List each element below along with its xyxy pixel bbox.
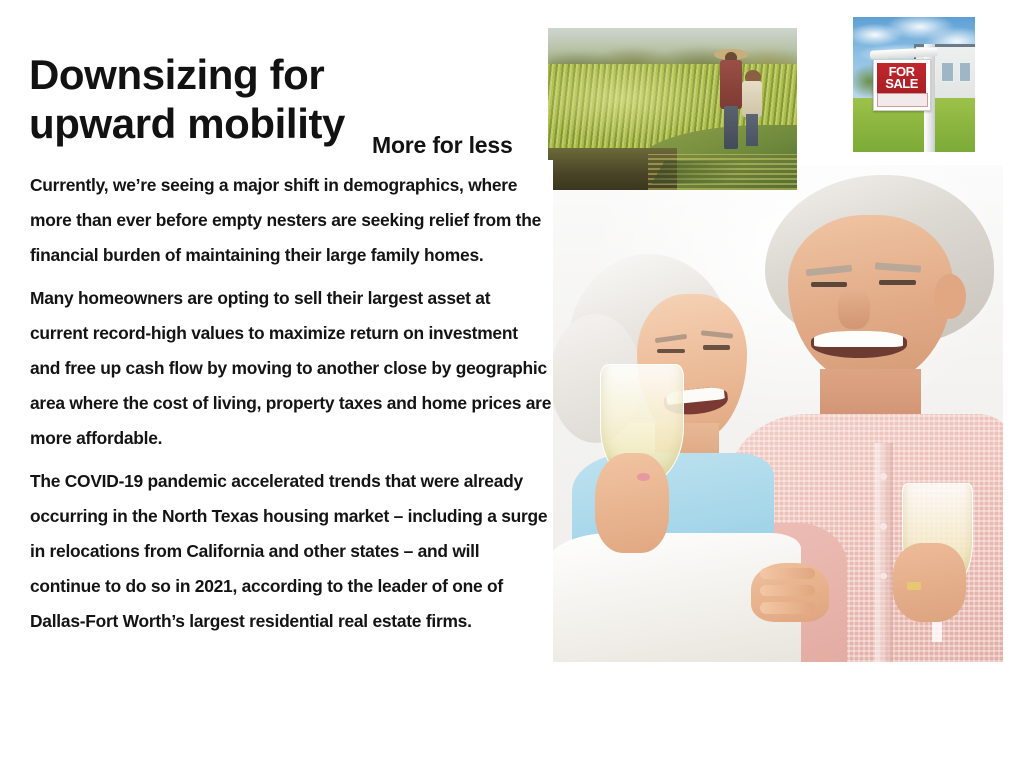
page-subtitle: More for less — [372, 132, 513, 159]
photo-house-window — [959, 62, 972, 82]
photo-man-hand — [893, 543, 966, 623]
photo-man-wedding-ring — [907, 582, 921, 590]
senior-couple-toasting-photo — [545, 165, 1003, 662]
photo-woman-eye — [657, 349, 684, 353]
photo-woman-hand — [595, 453, 668, 552]
photo-finger — [760, 602, 815, 613]
photo-sign-blank-strip — [877, 93, 928, 107]
body-copy: Currently, we’re seeing a major shift in… — [30, 168, 552, 639]
photo-man-shirt — [720, 60, 742, 109]
photo-finger — [760, 568, 815, 579]
photo-man-eye — [879, 280, 916, 285]
photo-girl-legs — [746, 114, 758, 146]
for-sale-sign-face: FOR SALE — [877, 63, 926, 94]
photo-man-legs — [724, 106, 739, 150]
for-sale-sign-photo: FOR SALE — [853, 17, 975, 152]
photo-house-window — [941, 62, 954, 82]
sign-text-sale: SALE — [885, 78, 918, 90]
photo-woman-eye — [703, 345, 730, 349]
photo-girl-dress — [742, 81, 762, 117]
man-and-child-by-pond-photo — [548, 28, 797, 190]
body-paragraph-3: The COVID-19 pandemic accelerated trends… — [30, 464, 552, 639]
photo-finger — [760, 585, 815, 596]
photo-shirt-button — [880, 523, 887, 530]
slide-canvas: FOR SALE — [0, 0, 1024, 768]
photo-ground-shadow — [651, 161, 744, 184]
body-paragraph-1: Currently, we’re seeing a major shift in… — [30, 168, 552, 273]
photo-man-nose — [838, 289, 870, 329]
photo-man-teeth — [814, 331, 902, 346]
photo-sign-board: FOR SALE — [873, 59, 931, 111]
body-paragraph-2: Many homeowners are opting to sell their… — [30, 281, 552, 456]
photo-man-eye — [811, 282, 848, 287]
